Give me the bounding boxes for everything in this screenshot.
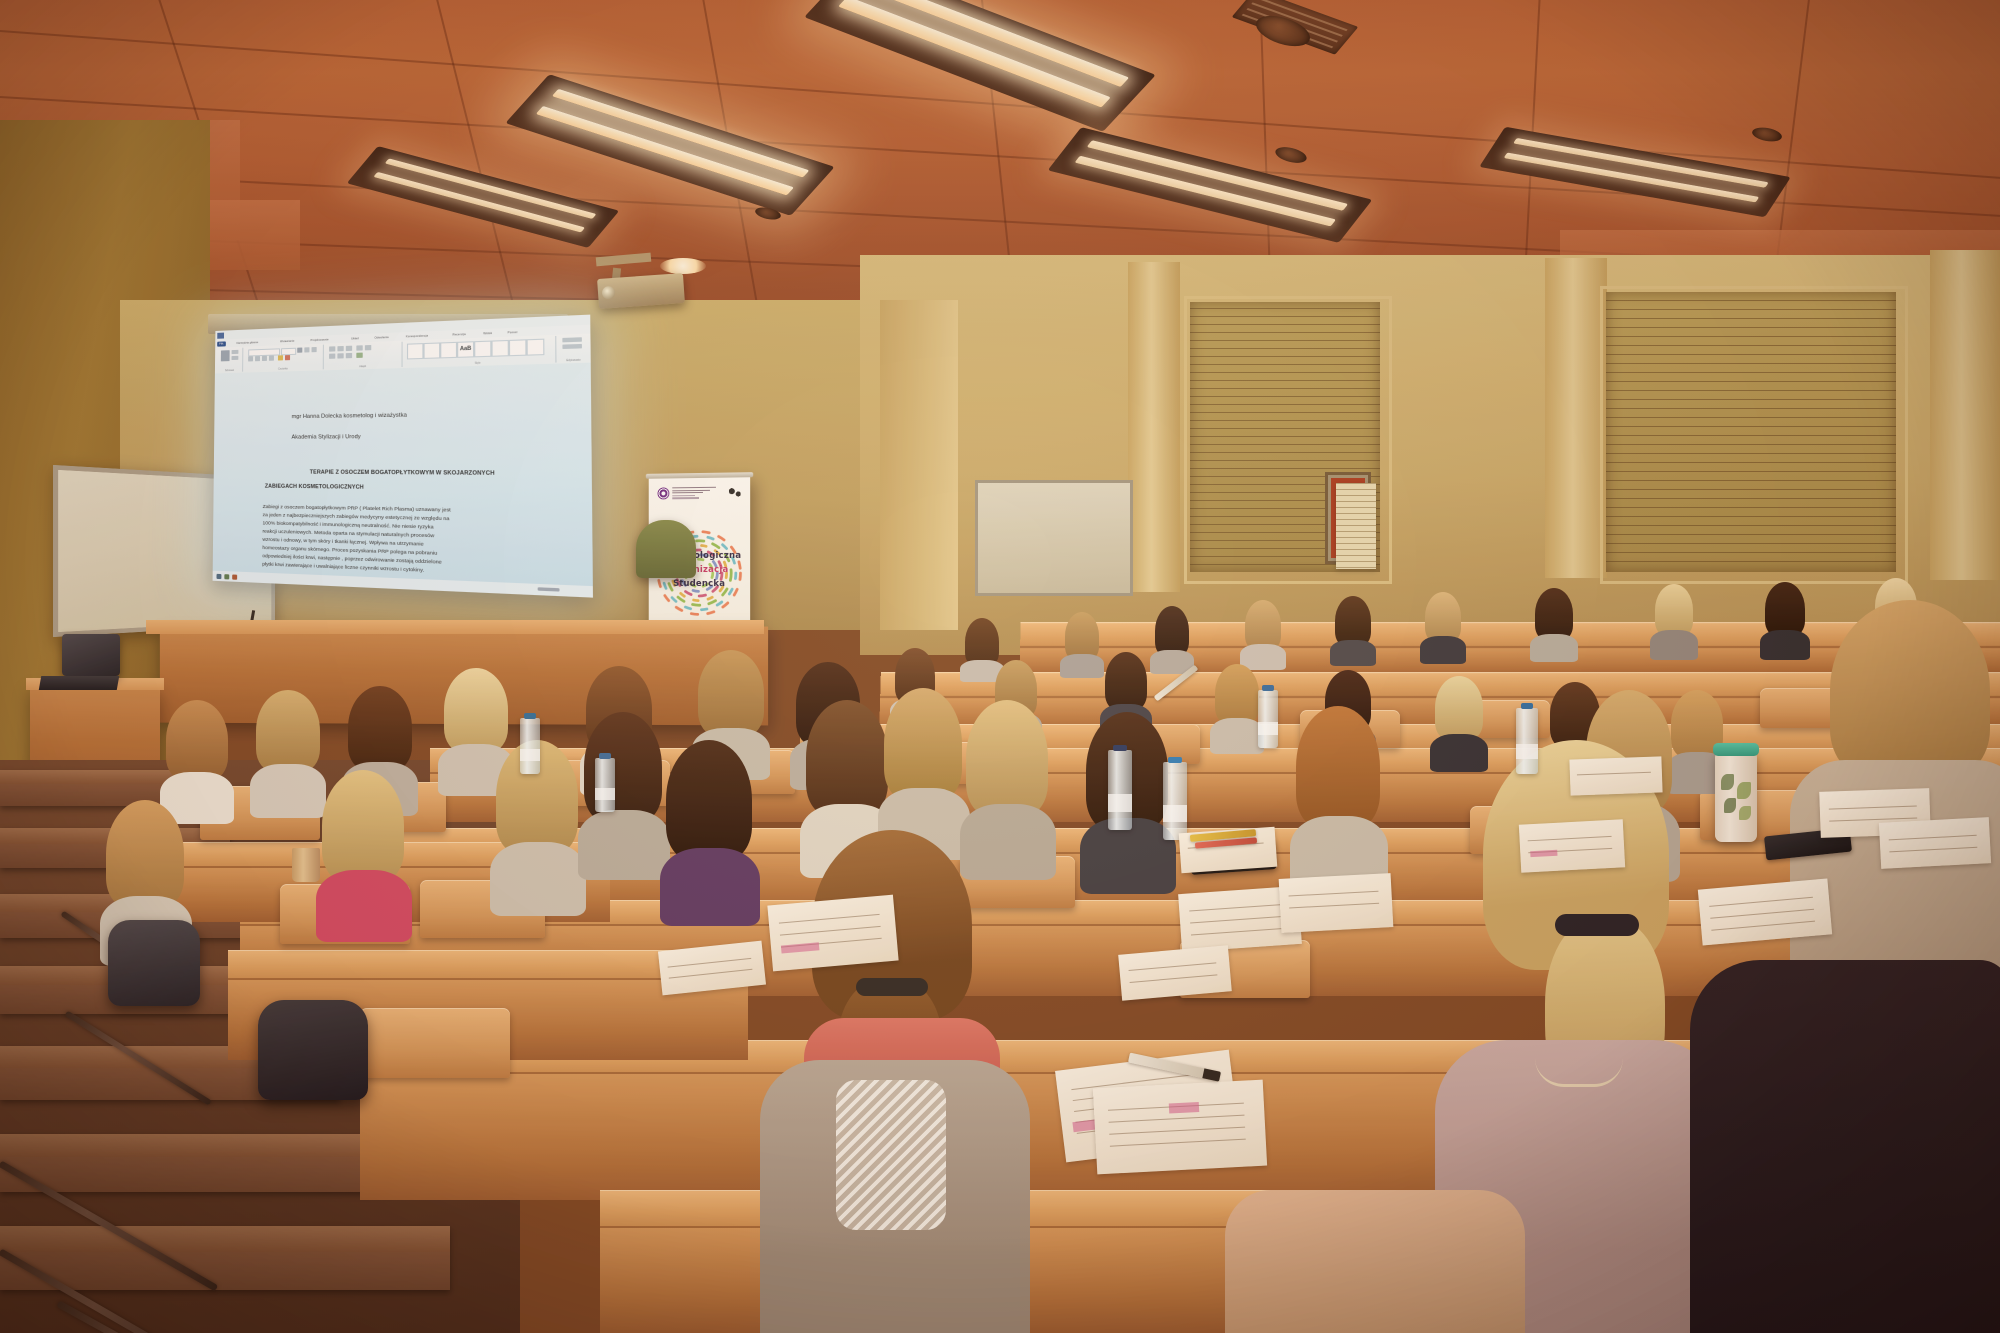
style-podtytul[interactable] (509, 339, 527, 356)
university-logo-icon (658, 487, 670, 499)
foreground-student-bottom-right (1690, 960, 2000, 1333)
chair-pink-foreground (1225, 1190, 1525, 1333)
water-bottle (1258, 690, 1278, 748)
audience-member (878, 688, 970, 852)
audience-member (1650, 584, 1698, 656)
stair-step-6 (0, 1134, 390, 1192)
quick-access-toolbar[interactable] (217, 331, 250, 338)
water-bottle (1163, 762, 1187, 840)
style-tytul[interactable] (491, 340, 509, 357)
style-normalny[interactable] (407, 343, 424, 359)
style-naglowek-1[interactable] (440, 342, 457, 359)
backpack (108, 920, 200, 1006)
handout-paper (1279, 873, 1394, 933)
ribbon-group-clipboard: Schowek (217, 348, 243, 373)
stair-step-7 (0, 1226, 450, 1290)
audience-member (578, 712, 670, 874)
audience-member (1530, 588, 1578, 658)
water-bottle (595, 758, 615, 812)
doc-affiliation-line: Akademia Stylizacji i Urody (291, 434, 360, 441)
zoom-slider[interactable] (538, 587, 560, 591)
doc-author-line: mgr Hanna Dolecka kosmetolog i wizażystk… (292, 412, 407, 420)
water-bottle (1108, 750, 1132, 830)
handout-paper (1698, 878, 1832, 945)
doc-heading-line-2: ZABIEGACH KOSMETOLOGICZNYCH (265, 484, 364, 491)
tab-recenzja[interactable]: Recenzja (453, 331, 466, 337)
style-preview-glyph[interactable]: AaB (457, 341, 474, 358)
audience-member (1150, 606, 1194, 670)
pillar-1 (1128, 262, 1180, 592)
audience-member (1420, 592, 1466, 660)
audience-member (1210, 664, 1264, 750)
tab-plik[interactable]: Plik (217, 341, 225, 346)
style-more[interactable] (526, 339, 544, 356)
audience-member (1240, 600, 1286, 666)
laptop-on-lectern (39, 676, 119, 690)
whiteboard-back (975, 480, 1133, 596)
audience-member (1330, 596, 1376, 662)
hair-tie (856, 978, 928, 996)
backpack (258, 1000, 368, 1100)
audience-member (660, 740, 760, 918)
ribbon-group-styles: AaB Style (404, 336, 557, 367)
ceiling-downlight-3 (660, 258, 706, 274)
bag-on-lectern (62, 634, 120, 676)
mug-lid (1713, 743, 1759, 756)
handout-paper (1569, 756, 1662, 795)
water-bottle (520, 718, 540, 774)
handout-paper (1118, 945, 1232, 1000)
projector-lens (602, 286, 616, 300)
audience-member (316, 770, 412, 936)
front-desk-top (146, 620, 764, 634)
lecturer-chair (636, 520, 696, 578)
water-bottle (1516, 708, 1538, 774)
organization-logo-icon (727, 485, 743, 499)
tab-odwolania[interactable]: Odwołania (374, 334, 388, 340)
banner-top-bar (646, 472, 753, 479)
tab-uklad[interactable]: Układ (351, 336, 359, 341)
pillar-3 (1930, 250, 2000, 580)
style-naglowek-2[interactable] (474, 341, 491, 358)
travel-mug (1715, 752, 1757, 842)
projection-screen: Plik Narzędzia główne Wstawianie Projekt… (213, 315, 593, 598)
banner-line-3: Studencka (649, 579, 750, 589)
wall-corner (880, 300, 958, 630)
handout-paper (767, 895, 898, 972)
handout-paper (1093, 1080, 1267, 1175)
handout-paper (1879, 817, 1991, 869)
window-frame-2 (1600, 286, 1908, 584)
taskbar-icon-3[interactable] (232, 574, 237, 579)
taskbar-icon-1[interactable] (217, 573, 222, 578)
tab-narzedzia[interactable]: Narzędzia główne (237, 340, 259, 346)
tab-pomoc[interactable]: Pomoc (508, 329, 518, 335)
projection-screen-assembly: Plik Narzędzia główne Wstawianie Projekt… (214, 330, 559, 592)
word-document-area[interactable]: mgr Hanna Dolecka kosmetolog i wizażystk… (213, 363, 593, 586)
style-bez-odstepow[interactable] (423, 342, 440, 359)
pillar-2 (1545, 258, 1607, 578)
lace-collar (836, 1080, 946, 1230)
tab-wstawianie[interactable]: Wstawianie (280, 338, 294, 344)
framed-certificate (1325, 472, 1371, 564)
hair-tie (1555, 914, 1639, 936)
seat-back (360, 1008, 510, 1078)
paper-cup (292, 848, 320, 882)
audience-member (1060, 612, 1104, 674)
tab-widok[interactable]: Widok (483, 330, 492, 336)
tab-korespondencja[interactable]: Korespondencja (406, 333, 428, 339)
ribbon-group-paragraph: Akapit (325, 342, 403, 370)
audience-member (1290, 706, 1388, 886)
tab-projektowanie[interactable]: Projektowanie (311, 337, 329, 343)
ribbon-group-editing: Edytowanie (558, 335, 590, 363)
doc-heading-line-1: TERAPIE Z OSOCZEM BOGATOPŁYTKOWYM W SKOJ… (310, 469, 495, 477)
audience-member (250, 690, 326, 814)
ribbon-group-font: Czcionka (244, 345, 324, 372)
university-name-text (672, 487, 716, 500)
taskbar-icon-2[interactable] (224, 574, 229, 579)
lecture-hall-photo: Plik Narzędzia główne Wstawianie Projekt… (0, 0, 2000, 1333)
ceiling-projector (597, 273, 685, 309)
handout-paper (1519, 819, 1625, 872)
